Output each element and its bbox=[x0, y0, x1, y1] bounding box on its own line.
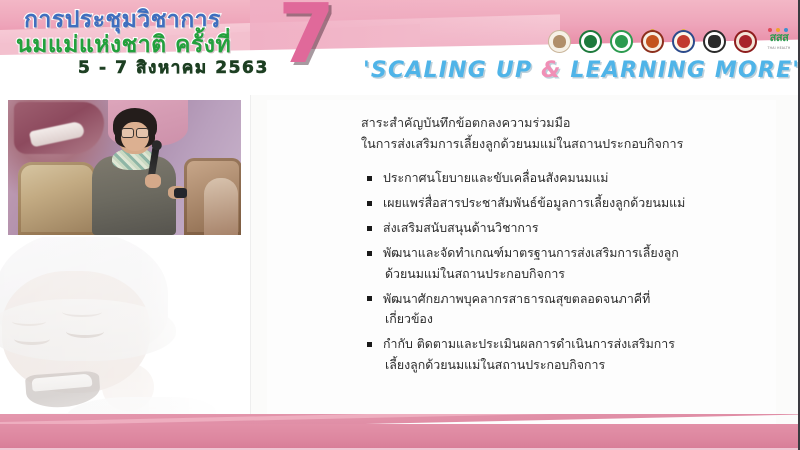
bullet-line1: พัฒนาและจัดทำเกณฑ์มาตรฐานการส่งเสริมการเ… bbox=[383, 245, 679, 260]
bullet-line2: เลี้ยงลูกด้วยนมแม่ในสถานประกอบกิจการ bbox=[383, 355, 777, 376]
bullet-line1: กำกับ ติดตามและประเมินผลการดำเนินการส่งเ… bbox=[383, 336, 675, 351]
tagline-text-post: LEARNING MORE' bbox=[562, 58, 800, 83]
content-inner-sheet: สาระสำคัญบันทึกข้อตกลงความร่วมมือ ในการส… bbox=[267, 100, 776, 431]
list-item: เผยแพร่สื่อสารประชาสัมพันธ์ข้อมูลการเลี้… bbox=[367, 193, 777, 214]
logo-department-health-green bbox=[609, 29, 634, 54]
logo-red-crest bbox=[733, 29, 758, 54]
slide-footer-bar bbox=[0, 414, 800, 450]
slide-content-panel: สาระสำคัญบันทึกข้อตกลงความร่วมมือ ในการส… bbox=[250, 95, 798, 435]
list-item: พัฒนาศักยภาพบุคลากรสาธารณสุขตลอดจนภาคีที… bbox=[367, 289, 777, 330]
speaker-video-frame[interactable] bbox=[8, 100, 241, 235]
logo-thai-emblem-orange bbox=[640, 29, 665, 54]
bullet-line2: เกี่ยวข้อง bbox=[383, 309, 777, 330]
smiling-child-photo bbox=[0, 237, 250, 435]
slide-header-banner: การประชุมวิชาการ นมแม่แห่งชาติ ครั้งที่ … bbox=[0, 0, 800, 95]
list-item: ส่งเสริมสนับสนุนด้านวิชาการ bbox=[367, 218, 777, 239]
logo-royal-garuda-crest bbox=[671, 29, 696, 54]
presenter-clicker bbox=[174, 188, 187, 198]
logo-thaihealth-sss: สสส THAI HEALTH bbox=[764, 29, 794, 54]
content-bullet-list: ประกาศนโยบายและขับเคลื่อนสังคมนมแม่ เผยแ… bbox=[367, 168, 777, 380]
sponsor-logo-strip: สสส THAI HEALTH bbox=[547, 26, 794, 56]
speaker-hand-left bbox=[145, 174, 161, 188]
speaker-eyeglasses bbox=[121, 128, 149, 136]
left-media-column bbox=[0, 95, 250, 435]
content-heading-line2: ในการส่งเสริมการเลี้ยงลูกด้วยนมแม่ในสถาน… bbox=[361, 133, 761, 154]
bullet-line1: พัฒนาศักยภาพบุคลากรสาธารณสุขตลอดจนภาคีที… bbox=[383, 291, 650, 306]
thaihealth-label: สสส bbox=[764, 32, 794, 43]
bullet-line2: ด้วยนมแม่ในสถานประกอบกิจการ bbox=[383, 264, 777, 285]
footer-fill bbox=[0, 424, 800, 450]
armchair-right-cushion bbox=[204, 178, 238, 235]
video-backdrop-mouth-graphic bbox=[14, 102, 104, 154]
logo-ministry-public-health-green bbox=[578, 29, 603, 54]
logo-black-circle-institute bbox=[702, 29, 727, 54]
list-item: ประกาศนโยบายและขับเคลื่อนสังคมนมแม่ bbox=[367, 168, 777, 189]
list-item: พัฒนาและจัดทำเกณฑ์มาตรฐานการส่งเสริมการเ… bbox=[367, 243, 777, 284]
child-photo-fade-overlay bbox=[0, 237, 250, 435]
list-item: กำกับ ติดตามและประเมินผลการดำเนินการส่งเ… bbox=[367, 334, 777, 375]
presentation-slide: การประชุมวิชาการ นมแม่แห่งชาติ ครั้งที่ … bbox=[0, 0, 800, 450]
thaihealth-subtext: THAI HEALTH bbox=[764, 46, 794, 50]
conference-date: 5 - 7 สิงหาคม 2563 bbox=[78, 54, 269, 81]
bullet-line1: เผยแพร่สื่อสารประชาสัมพันธ์ข้อมูลการเลี้… bbox=[383, 195, 685, 210]
bullet-line1: ประกาศนโยบายและขับเคลื่อนสังคมนมแม่ bbox=[383, 170, 608, 185]
bullet-line1: ส่งเสริมสนับสนุนด้านวิชาการ bbox=[383, 220, 539, 235]
armchair-left bbox=[18, 162, 96, 235]
content-heading: สาระสำคัญบันทึกข้อตกลงความร่วมมือ ในการส… bbox=[361, 112, 761, 154]
content-heading-line1: สาระสำคัญบันทึกข้อตกลงความร่วมมือ bbox=[361, 112, 761, 133]
tagline-text-pre: 'SCALING UP bbox=[363, 58, 541, 83]
logo-royal-seal bbox=[547, 29, 572, 54]
edition-number-seven: 7 bbox=[278, 0, 335, 76]
tagline-ampersand: & bbox=[541, 58, 561, 83]
conference-tagline: 'SCALING UP & LEARNING MORE' bbox=[363, 58, 800, 83]
